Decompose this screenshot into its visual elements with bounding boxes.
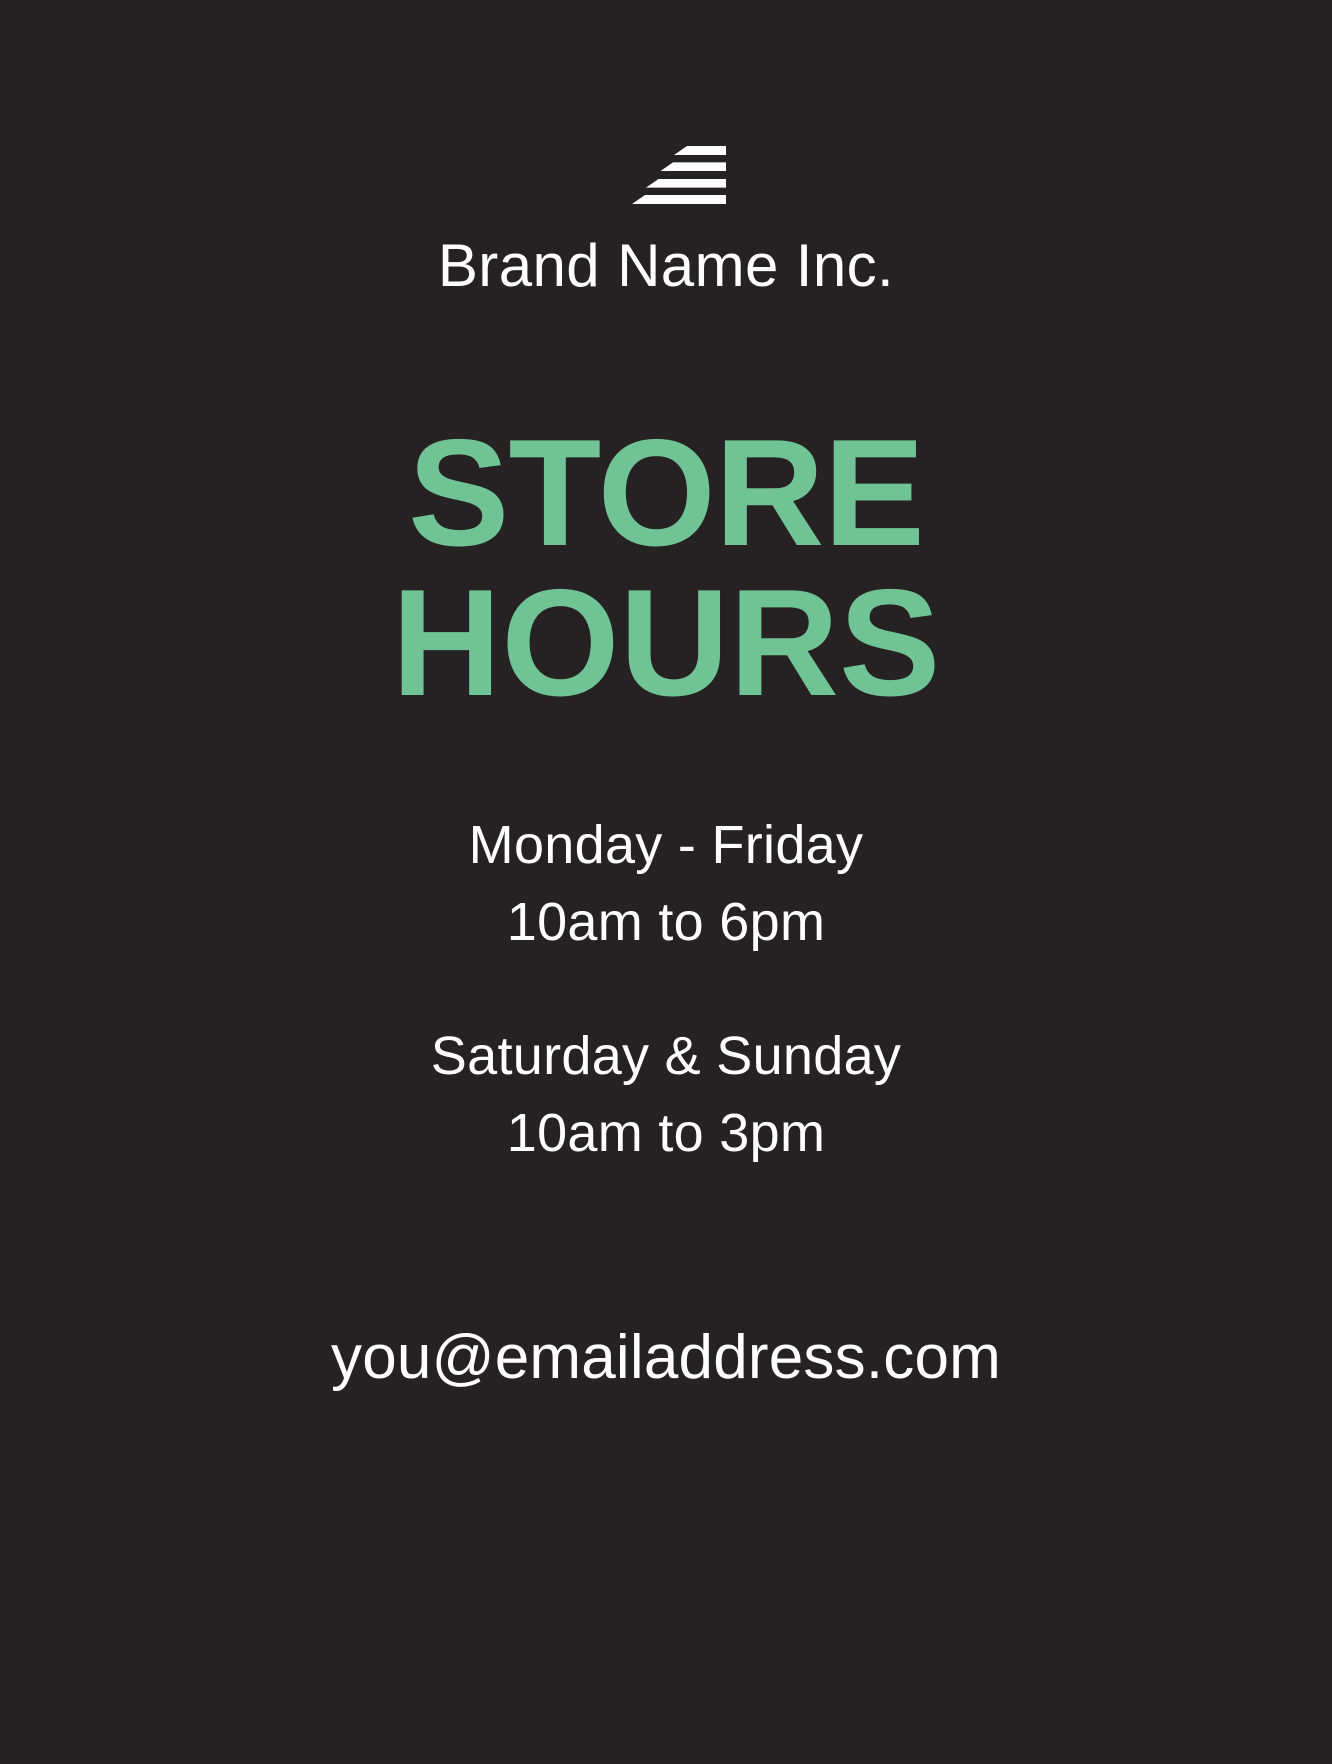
contact-email[interactable]: you@emailaddress.com	[331, 1322, 1001, 1393]
page-title: STORE HOURS	[392, 418, 941, 719]
logo-bar-1	[674, 146, 726, 155]
hours-days-weekday: Monday - Friday	[431, 807, 901, 884]
headline-line-store: STORE	[392, 418, 941, 568]
headline-line-hours: HOURS	[392, 568, 941, 718]
hours-days-weekend: Saturday & Sunday	[431, 1018, 901, 1095]
logo-bar-4	[632, 195, 726, 204]
brand-name: Brand Name Inc.	[438, 236, 894, 296]
hours-group-weekday: Monday - Friday 10am to 6pm	[431, 807, 901, 960]
hours-group-weekend: Saturday & Sunday 10am to 3pm	[431, 1018, 901, 1171]
hours-time-weekday: 10am to 6pm	[431, 884, 901, 961]
stacked-bars-logo-icon	[606, 146, 726, 204]
hours-list: Monday - Friday 10am to 6pm Saturday & S…	[431, 807, 901, 1172]
logo-bar-2	[660, 162, 726, 171]
logo-bar-3	[646, 179, 726, 188]
store-hours-poster: Brand Name Inc. STORE HOURS Monday - Fri…	[0, 0, 1332, 1764]
hours-time-weekend: 10am to 3pm	[431, 1095, 901, 1172]
